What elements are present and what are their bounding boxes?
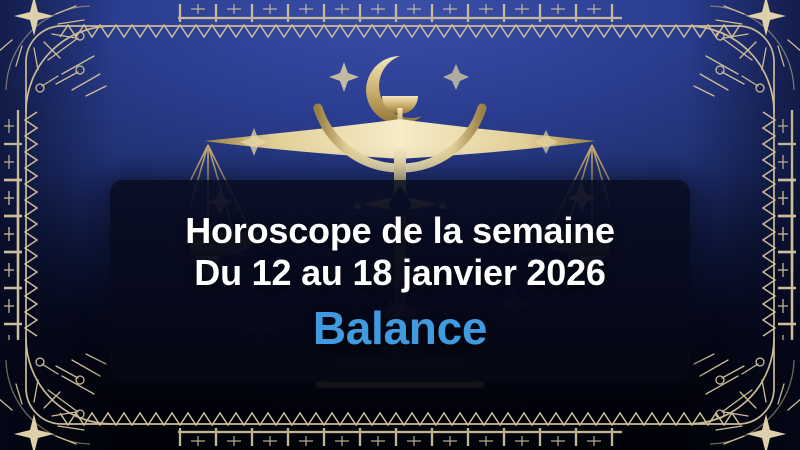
caption-block: Horoscope de la semaine Du 12 au 18 janv… [110,180,690,382]
title-line-2: Du 12 au 18 janvier 2026 [194,252,605,294]
corner-starburst-bottom-left [0,338,112,450]
zodiac-sign-label: Balance [313,304,487,352]
corner-starburst-bottom-right [688,338,800,450]
corner-starburst-top-right [688,0,800,112]
horoscope-banner: Horoscope de la semaine Du 12 au 18 janv… [0,0,800,450]
corner-starburst-top-left [0,0,112,112]
title-line-1: Horoscope de la semaine [185,210,615,252]
